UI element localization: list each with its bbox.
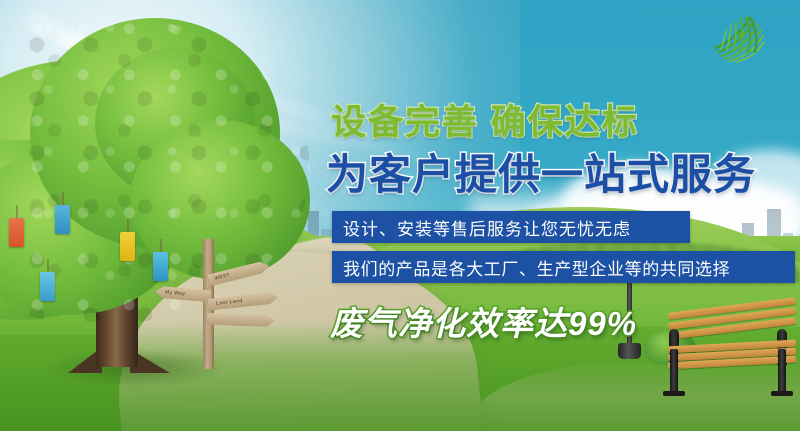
bench-foot-left <box>663 391 685 396</box>
signpost-arm-blank <box>207 313 275 327</box>
headline-line-2: 为客户提供一站式服务 <box>326 141 756 202</box>
hanging-tag-orange <box>9 218 24 247</box>
feature-bar-customers: 我们的产品是各大工厂、生产型企业等的共同选择 <box>332 251 795 283</box>
hanging-tag-blue <box>55 205 70 234</box>
hanging-tag-yellow <box>120 232 135 261</box>
headline-line-1: 设备完善 确保达标 <box>331 94 639 145</box>
bench-leg-left <box>670 349 678 393</box>
feature-bar-service: 设计、安装等售后服务让您无忧无虑 <box>332 211 690 243</box>
bench-leg-right <box>778 349 786 393</box>
lamp-post-base <box>618 343 641 359</box>
efficiency-tagline: 废气净化效率达99% <box>330 297 637 345</box>
hanging-tag-cyan-2 <box>40 272 55 301</box>
hanging-tag-cyan <box>153 252 168 281</box>
promotional-banner: WEST My Way Lost Land <box>0 0 800 431</box>
green-wing-leaf-logo-icon <box>706 4 776 66</box>
bench-foot-right <box>771 391 793 396</box>
park-bench <box>660 299 800 391</box>
